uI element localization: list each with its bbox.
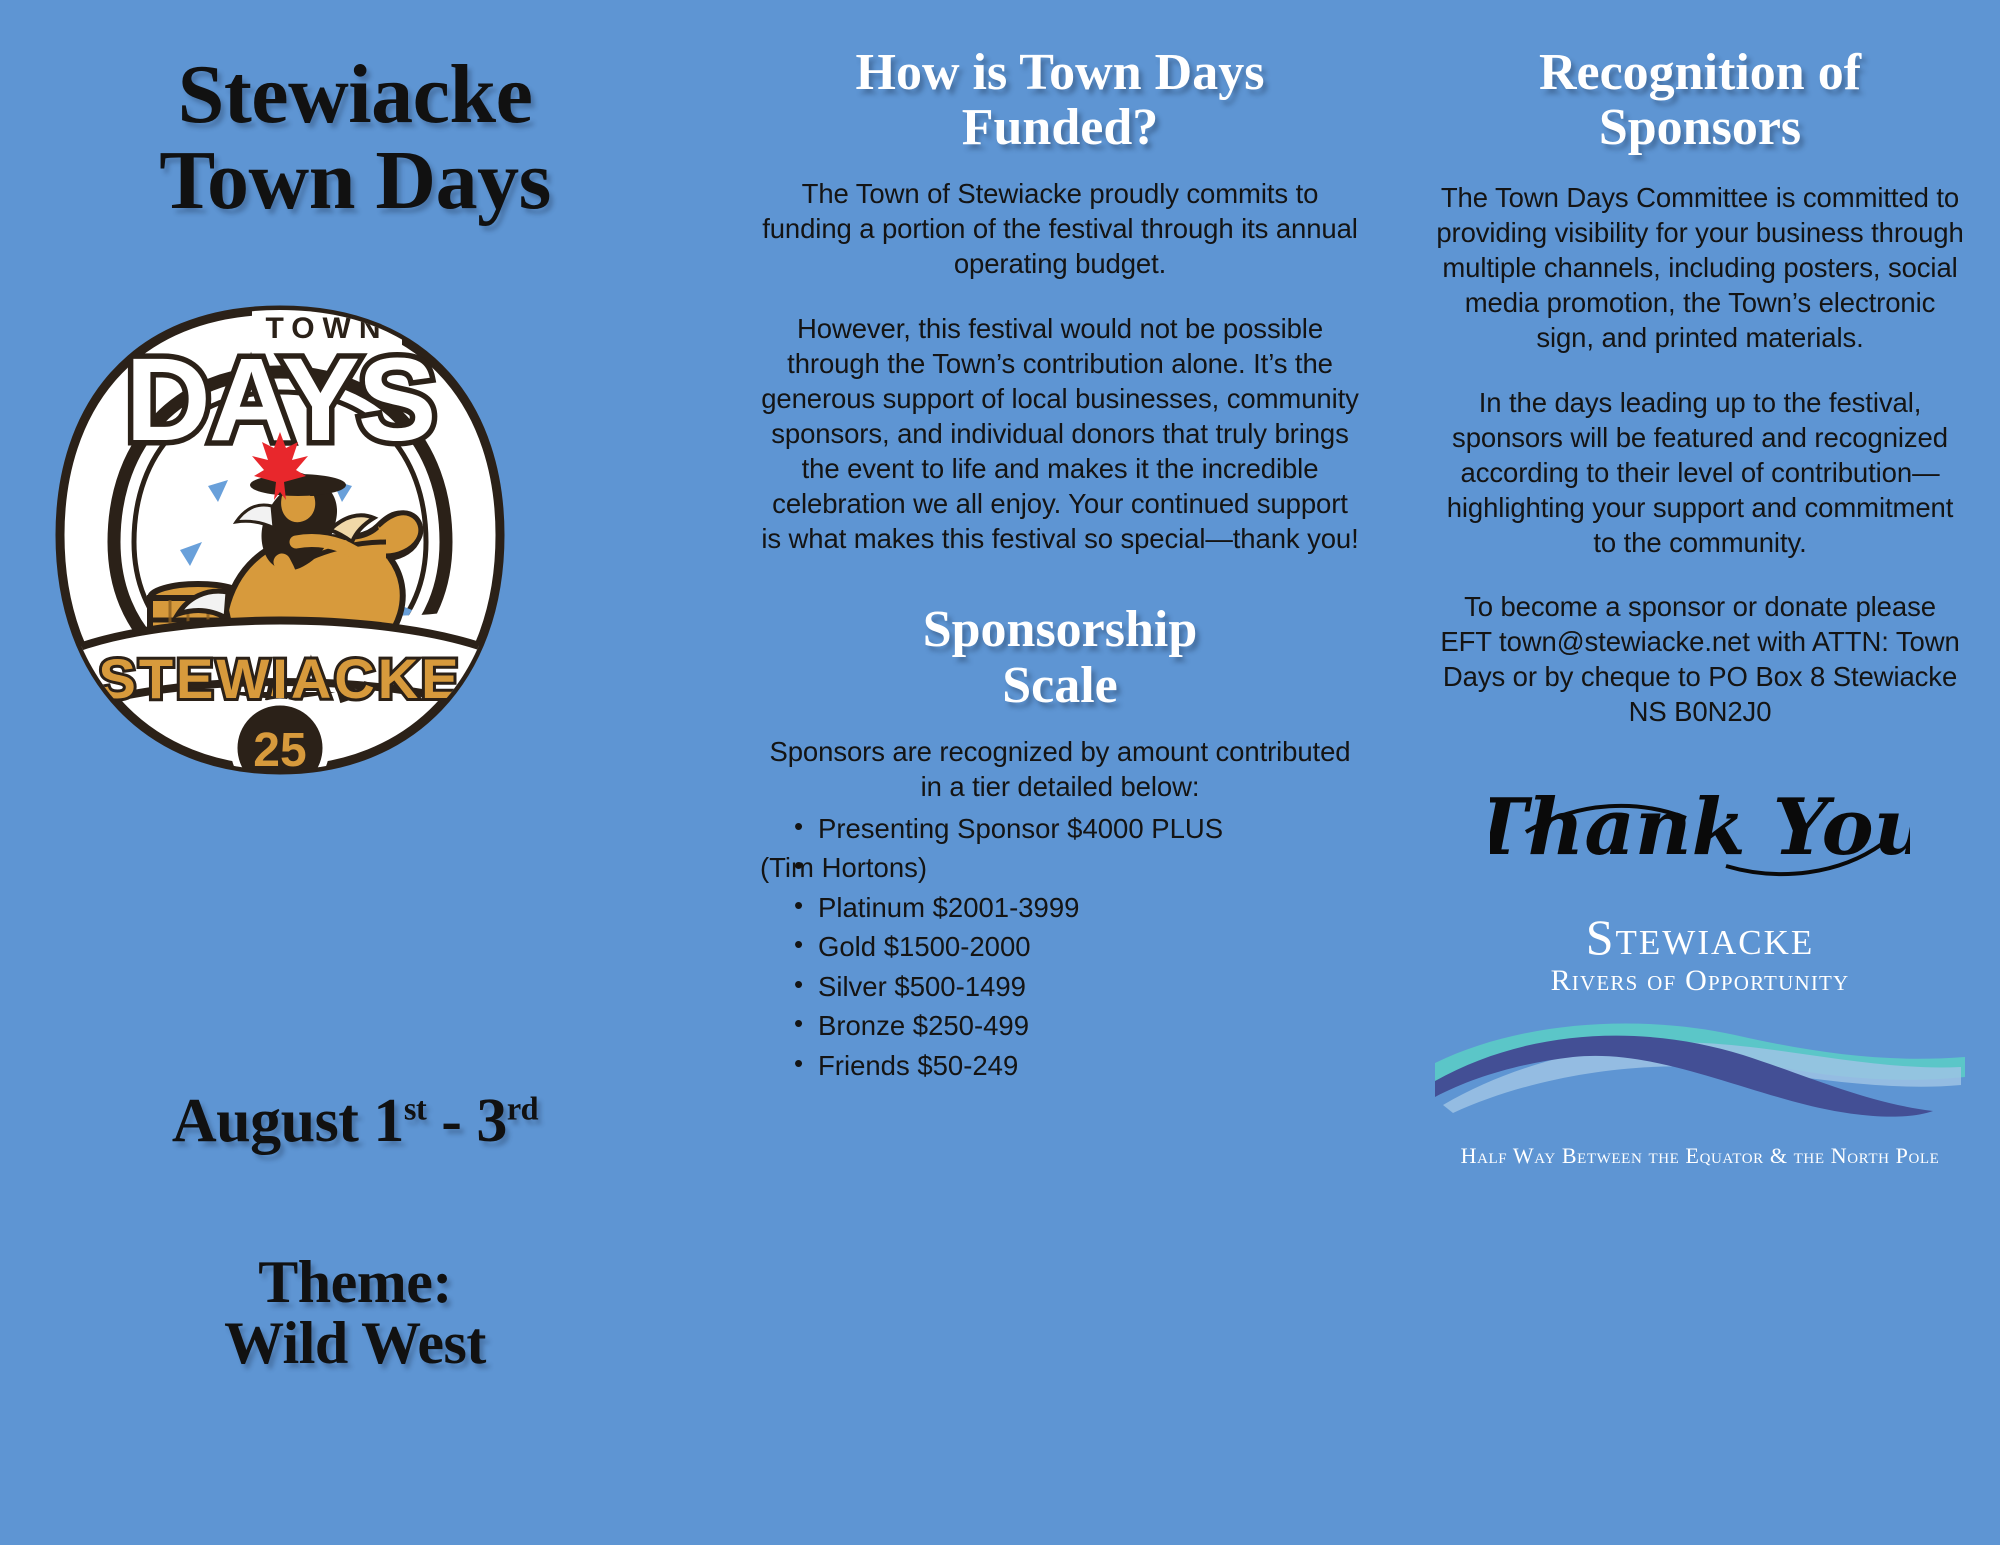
tier-item-silver: Silver $500-1499 xyxy=(760,967,1360,1007)
svg-text:25: 25 xyxy=(253,724,306,777)
thank-you-script: Thank You xyxy=(1435,770,1965,890)
left-column: Stewiacke Town Days xyxy=(0,0,710,1545)
recognition-paragraph-2: In the days leading up to the festival, … xyxy=(1435,386,1965,561)
sponsorship-scale-heading: Sponsorship Scale xyxy=(760,602,1360,712)
event-theme: Theme: Wild West xyxy=(0,1252,710,1374)
title-line-2: Town Days xyxy=(0,138,710,224)
scale-intro: Sponsors are recognized by amount contri… xyxy=(760,735,1360,805)
town-logo-tagline: Rivers of Opportunity xyxy=(1435,964,1965,997)
town-logo-footer: Half Way Between the Equator & the North… xyxy=(1435,1143,1965,1169)
stewiacke-ribbon: STEWIACKE xyxy=(66,621,496,713)
brochure-page: Stewiacke Town Days xyxy=(0,0,2000,1545)
stewiacke-town-logo: Stewiacke Rivers of Opportunity Half Way… xyxy=(1435,912,1965,1169)
recognition-heading: Recognition of Sponsors xyxy=(1435,45,1965,155)
recognition-heading-line-1: Recognition of xyxy=(1539,44,1861,101)
contact-paragraph: To become a sponsor or donate please EFT… xyxy=(1435,590,1965,730)
sponsorship-tier-list: Presenting Sponsor $4000 PLUS (Tim Horto… xyxy=(760,809,1360,1086)
tier-item-bronze: Bronze $250-499 xyxy=(760,1006,1360,1046)
tier-item-platinum: Platinum $2001-3999 xyxy=(760,888,1360,928)
scale-heading-line-2: Scale xyxy=(1002,657,1118,714)
page-title: Stewiacke Town Days xyxy=(0,52,710,223)
town-logo-name: Stewiacke xyxy=(1435,912,1965,962)
tier-item-gold: Gold $1500-2000 xyxy=(760,927,1360,967)
funding-heading: How is Town Days Funded? xyxy=(760,45,1360,155)
river-waves-graphic xyxy=(1435,1001,1965,1141)
recognition-paragraph-1: The Town Days Committee is committed to … xyxy=(1435,181,1965,356)
event-dates: August 1st - 3rd xyxy=(0,1090,710,1153)
recognition-heading-line-2: Sponsors xyxy=(1599,99,1801,156)
theme-label: Theme: xyxy=(0,1252,710,1313)
funding-heading-line-2: Funded? xyxy=(962,99,1159,156)
funding-paragraph-2: However, this festival would not be poss… xyxy=(760,312,1360,556)
title-line-1: Stewiacke xyxy=(0,52,710,138)
tier-item-friends: Friends $50-249 xyxy=(760,1046,1360,1086)
middle-column: How is Town Days Funded? The Town of Ste… xyxy=(710,0,1410,1545)
event-date-text: August 1st - 3rd xyxy=(0,1090,710,1153)
funding-heading-line-1: How is Town Days xyxy=(856,44,1265,101)
thank-you-text: Thank You xyxy=(1490,782,1910,873)
funding-paragraph-1: The Town of Stewiacke proudly commits to… xyxy=(760,177,1360,282)
town-days-badge-logo: TOWN DAYS STEWIACKE 25 xyxy=(30,280,530,800)
tier-item-presenting: Presenting Sponsor $4000 PLUS xyxy=(760,809,1360,849)
year-badge-25: 25 xyxy=(234,702,326,794)
scale-heading-line-1: Sponsorship xyxy=(923,601,1198,658)
right-column: Recognition of Sponsors The Town Days Co… xyxy=(1410,0,2000,1545)
theme-value: Wild West xyxy=(0,1313,710,1374)
tier-item-presenting-note: (Tim Hortons) xyxy=(760,848,1360,888)
